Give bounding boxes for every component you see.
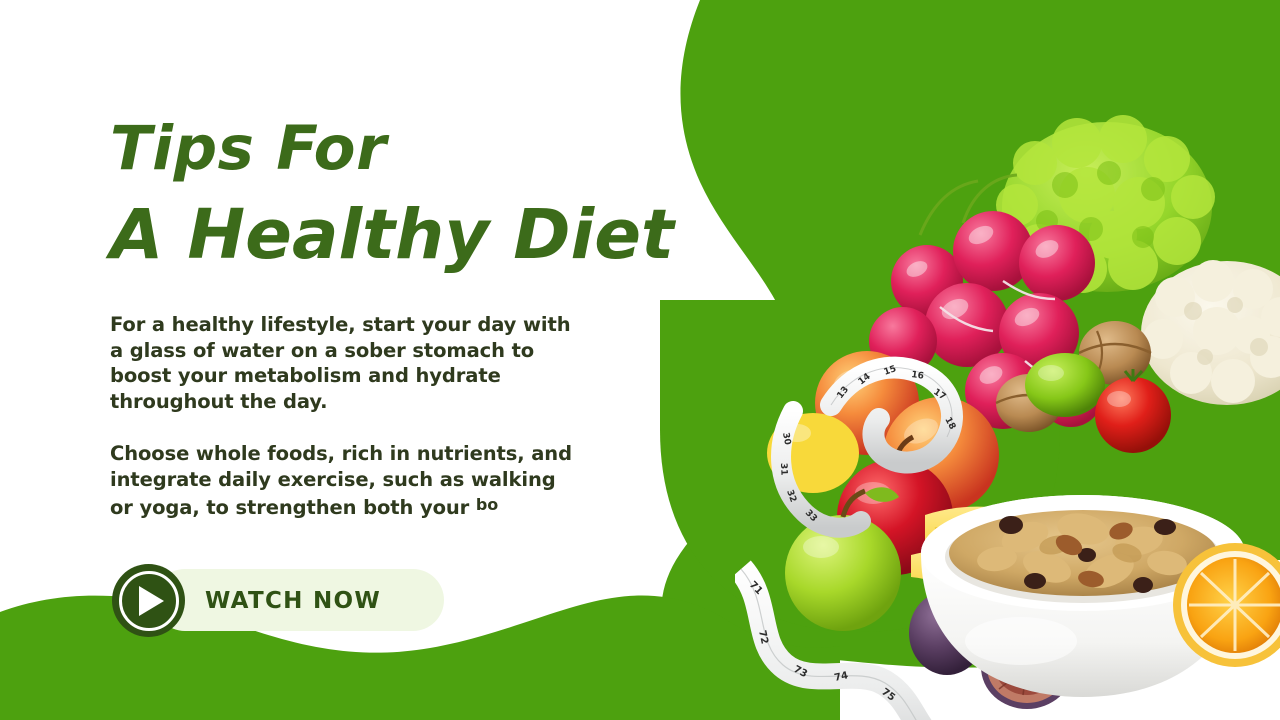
page-title-line-1: Tips For xyxy=(110,118,710,179)
paragraph-one: For a healthy lifestyle, start your day … xyxy=(110,312,580,414)
watch-now-label: WATCH NOW xyxy=(205,588,381,614)
healthy-food-image: 13 14 15 16 17 18 30 31 32 33 xyxy=(735,85,1280,720)
paragraph-two-truncated: bo xyxy=(476,495,498,514)
svg-text:16: 16 xyxy=(911,370,925,382)
play-icon-ring xyxy=(119,571,179,631)
paragraph-two-text: Choose whole foods, rich in nutrients, a… xyxy=(110,442,572,519)
paragraph-two: Choose whole foods, rich in nutrients, a… xyxy=(110,441,580,521)
play-icon[interactable] xyxy=(112,564,185,637)
svg-text:31: 31 xyxy=(778,463,788,476)
page-title-line-2: A Healthy Diet xyxy=(110,201,710,270)
text-content: Tips For A Healthy Diet For a healthy li… xyxy=(110,118,710,521)
cauliflower-item xyxy=(1141,260,1280,405)
body-copy: For a healthy lifestyle, start your day … xyxy=(110,312,580,521)
slide-root: 13 14 15 16 17 18 30 31 32 33 xyxy=(0,0,1280,720)
play-icon-triangle xyxy=(139,586,164,616)
watch-now-button[interactable]: WATCH NOW xyxy=(112,563,381,638)
lime-item xyxy=(1025,353,1105,417)
